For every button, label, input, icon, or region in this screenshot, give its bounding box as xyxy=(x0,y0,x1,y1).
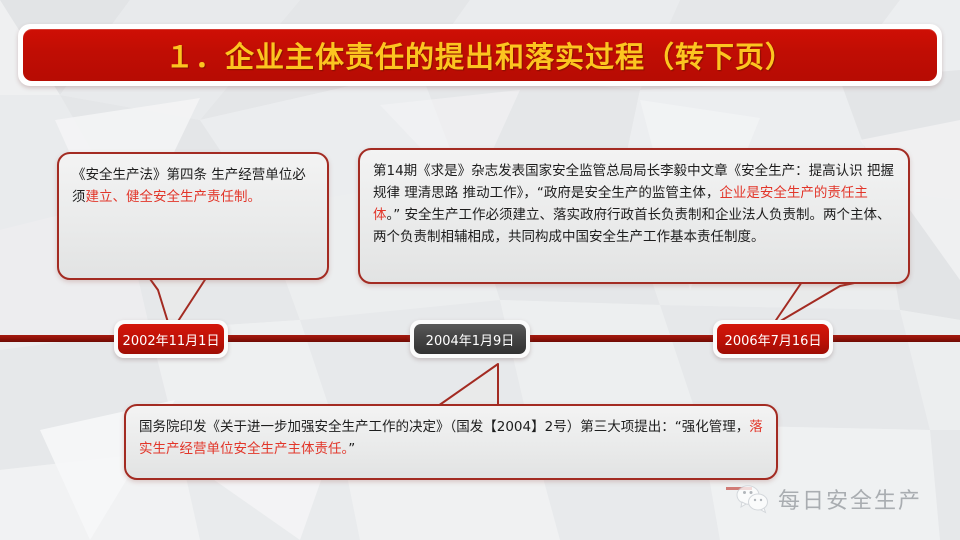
law-text-highlight: 建立、健全安全生产责任制。 xyxy=(86,189,262,205)
callout-box-state-council-decision: 国务院印发《关于进一步加强安全生产工作的决定》（国发【2004】2号）第三大项提… xyxy=(124,404,778,480)
timeline-badge-2002-label: 2002年11月1日 xyxy=(123,330,220,349)
timeline-segment-mid-right xyxy=(527,335,717,342)
guowuyuan-line-2-suffix: ” xyxy=(348,441,355,457)
law-text-part1: 《安全生产法》第四条 生产经营 xyxy=(72,167,265,183)
watermark-label: 每日安全生产 xyxy=(778,483,922,515)
timeline-badge-2004-label: 2004年1月9日 xyxy=(426,330,515,349)
qiushi-line-5: 中国安全生产工作基本责任制度。 xyxy=(562,229,765,245)
slide-canvas: １．企业主体责任的提出和落实过程（转下页） 《安全生产法》第四条 生产经营单位必… xyxy=(0,0,960,540)
timeline-badge-2006-inner: 2006年7月16日 xyxy=(717,324,829,354)
timeline-badge-2002[interactable]: 2002年11月1日 xyxy=(114,320,228,358)
timeline-badge-2004[interactable]: 2004年1月9日 xyxy=(410,320,530,358)
slide-title-bar: １．企业主体责任的提出和落实过程（转下页） xyxy=(18,24,942,86)
timeline-segment-right xyxy=(828,335,960,342)
slide-title-background: １．企业主体责任的提出和落实过程（转下页） xyxy=(23,29,937,81)
qiushi-line-1: 第14期《求是》杂志发表国家安全监管总局局长李毅中文章《安全生产： xyxy=(373,163,809,179)
timeline-badge-2002-inner: 2002年11月1日 xyxy=(118,324,224,354)
timeline-badge-2006[interactable]: 2006年7月16日 xyxy=(713,320,833,358)
wechat-icon xyxy=(736,484,770,514)
timeline-badge-2006-label: 2006年7月16日 xyxy=(725,330,822,349)
callout-guowuyuan-text: 国务院印发《关于进一步加强安全生产工作的决定》（国发【2004】2号）第三大项提… xyxy=(126,406,776,471)
guowuyuan-line-2-prefix: 出：“强化管理， xyxy=(648,419,750,435)
watermark: 每日安全生产 xyxy=(736,483,922,515)
timeline-badge-2004-inner: 2004年1月9日 xyxy=(414,324,526,354)
guowuyuan-line-1: 国务院印发《关于进一步加强安全生产工作的决定》（国发【2004】2号）第三大项提 xyxy=(139,419,648,435)
callout-qiushi-text: 第14期《求是》杂志发表国家安全监管总局局长李毅中文章《安全生产：提高认识 把握… xyxy=(360,150,908,258)
callout-law-text: 《安全生产法》第四条 生产经营单位必须建立、健全安全生产责任制。 xyxy=(59,154,327,219)
timeline-segment-left xyxy=(0,335,118,342)
page-title: １．企业主体责任的提出和落实过程（转下页） xyxy=(165,34,795,76)
timeline-segment-mid-left xyxy=(224,335,414,342)
callout-box-qiushi-article: 第14期《求是》杂志发表国家安全监管总局局长李毅中文章《安全生产：提高认识 把握… xyxy=(358,148,910,284)
callout-box-safety-law: 《安全生产法》第四条 生产经营单位必须建立、健全安全生产责任制。 xyxy=(57,152,329,280)
qiushi-line-3-rest: 。” 安全生产工作必须建立、落实政府行政首 xyxy=(387,207,648,223)
